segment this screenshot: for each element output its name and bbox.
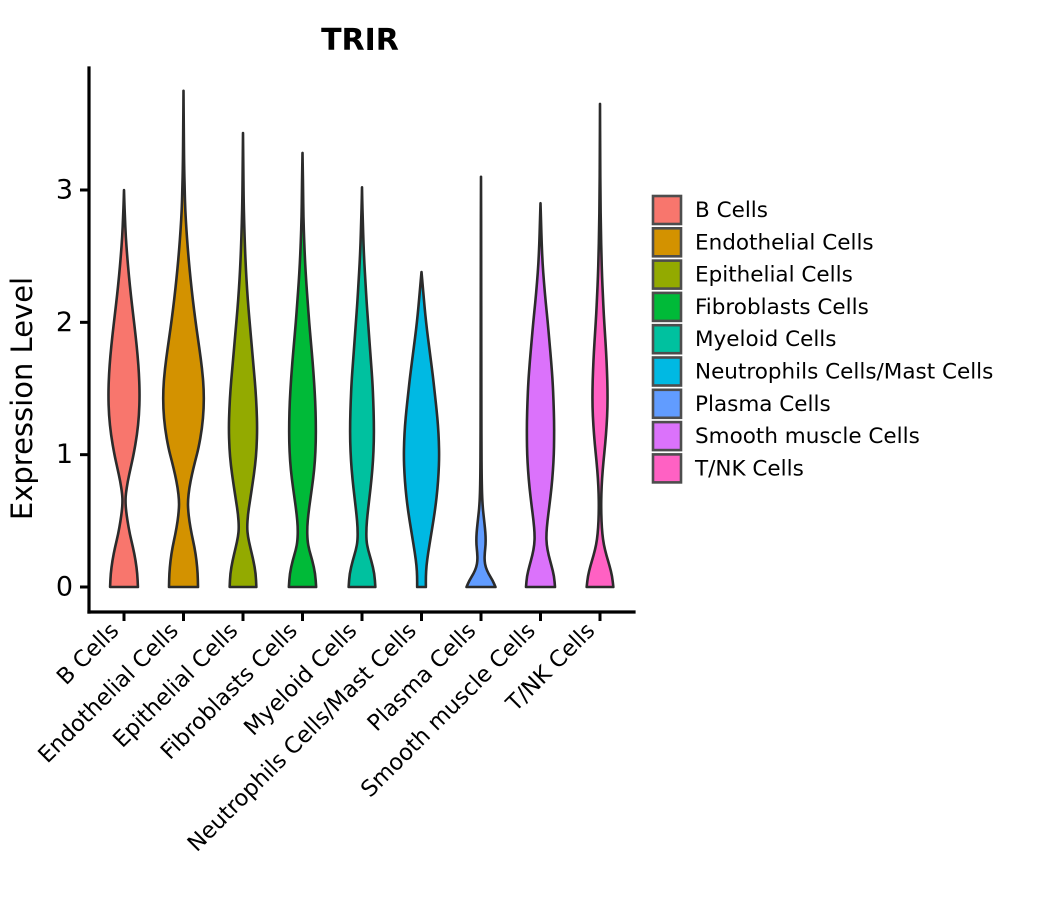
- y-tick-label: 3: [56, 175, 73, 206]
- y-tick-label: 1: [56, 439, 73, 470]
- legend-label-epithelial-cells: Epithelial Cells: [695, 263, 853, 288]
- legend-label-t-nk-cells: T/NK Cells: [694, 456, 804, 481]
- legend-label-neutrophils-cells-mast-cells: Neutrophils Cells/Mast Cells: [695, 360, 993, 385]
- violin-epithelial-cells[interactable]: [229, 133, 257, 587]
- legend: B CellsEndothelial CellsEpithelial Cells…: [653, 196, 993, 482]
- legend-swatch-endothelial-cells[interactable]: [653, 228, 681, 256]
- violin-plot-canvas: TRIR0123Expression LevelB CellsEndotheli…: [0, 0, 1057, 900]
- legend-label-smooth-muscle-cells: Smooth muscle Cells: [695, 424, 920, 449]
- legend-swatch-fibroblasts-cells[interactable]: [653, 293, 681, 321]
- violin-endothelial-cells[interactable]: [163, 91, 204, 587]
- legend-swatch-t-nk-cells[interactable]: [653, 454, 681, 482]
- violin-myeloid-cells[interactable]: [349, 187, 376, 587]
- violin-plasma-cells[interactable]: [467, 177, 496, 587]
- y-axis-title: Expression Level: [5, 277, 39, 520]
- legend-swatch-myeloid-cells[interactable]: [653, 325, 681, 353]
- legend-swatch-epithelial-cells[interactable]: [653, 261, 681, 289]
- plot-title: TRIR: [321, 23, 399, 58]
- y-tick-label: 0: [56, 572, 73, 603]
- legend-label-plasma-cells: Plasma Cells: [695, 392, 831, 417]
- legend-swatch-plasma-cells[interactable]: [653, 390, 681, 418]
- legend-label-b-cells: B Cells: [695, 198, 768, 223]
- y-tick-label: 2: [56, 307, 73, 338]
- legend-swatch-b-cells[interactable]: [653, 196, 681, 224]
- legend-label-fibroblasts-cells: Fibroblasts Cells: [695, 295, 869, 320]
- legend-swatch-neutrophils-cells-mast-cells[interactable]: [653, 358, 681, 386]
- violin-neutrophils-cells-mast-cells[interactable]: [404, 272, 439, 587]
- y-axis-ticks: 0123: [56, 175, 89, 603]
- legend-label-myeloid-cells: Myeloid Cells: [695, 327, 836, 352]
- violin-smooth-muscle-cells[interactable]: [526, 203, 555, 587]
- violin-plot-figure: TRIR0123Expression LevelB CellsEndotheli…: [0, 0, 1057, 900]
- violin-fibroblasts-cells[interactable]: [289, 153, 316, 587]
- violin-t-nk-cells[interactable]: [587, 104, 614, 587]
- violins-group: [108, 91, 613, 587]
- legend-swatch-smooth-muscle-cells[interactable]: [653, 422, 681, 450]
- x-axis-ticks: B CellsEndothelial CellsEpithelial Cells…: [33, 612, 600, 857]
- legend-label-endothelial-cells: Endothelial Cells: [695, 230, 874, 255]
- violin-b-cells[interactable]: [108, 190, 139, 587]
